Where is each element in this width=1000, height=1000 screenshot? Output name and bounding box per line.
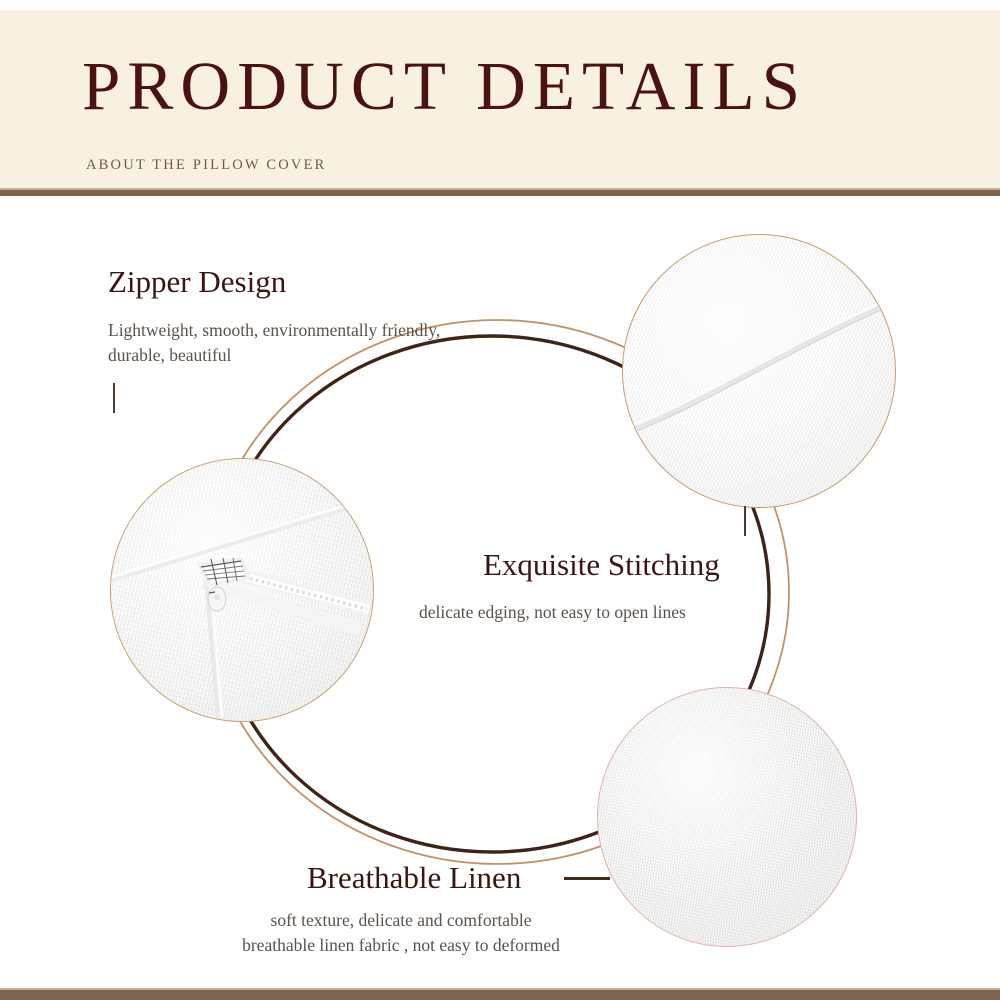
feature-description-stitching: delicate edging, not easy to open lines [419, 600, 819, 625]
header-divider-dark [0, 190, 1000, 196]
feature-description-zipper: Lightweight, smooth, environmentally fri… [108, 318, 488, 368]
feature-heading-linen: Breathable Linen [307, 862, 521, 893]
page-title: PRODUCT DETAILS [82, 52, 807, 121]
top-white-strip [0, 0, 1000, 10]
product-details-infographic: PRODUCT DETAILS ABOUT THE PILLOW COVER [0, 0, 1000, 1000]
accent-tick-stitching [744, 506, 746, 536]
photo-circle-zipper [110, 458, 374, 722]
header-banner: PRODUCT DETAILS ABOUT THE PILLOW COVER [0, 10, 1000, 188]
accent-tick-zipper [113, 383, 115, 413]
page-subtitle: ABOUT THE PILLOW COVER [86, 158, 327, 173]
feature-description-linen: soft texture, delicate and comfortable b… [186, 908, 616, 958]
connector-dash-linen [564, 877, 610, 880]
feature-heading-stitching: Exquisite Stitching [483, 549, 720, 580]
feature-description-linen-line2: breathable linen fabric , not easy to de… [186, 933, 616, 958]
circle-shading [623, 235, 895, 507]
circle-shading [598, 688, 856, 946]
footer-bar [0, 990, 1000, 1000]
feature-heading-zipper: Zipper Design [108, 266, 286, 297]
feature-description-linen-line1: soft texture, delicate and comfortable [186, 908, 616, 933]
circle-shading [111, 459, 373, 721]
photo-circle-linen [597, 687, 857, 947]
photo-circle-stitching [622, 234, 896, 508]
